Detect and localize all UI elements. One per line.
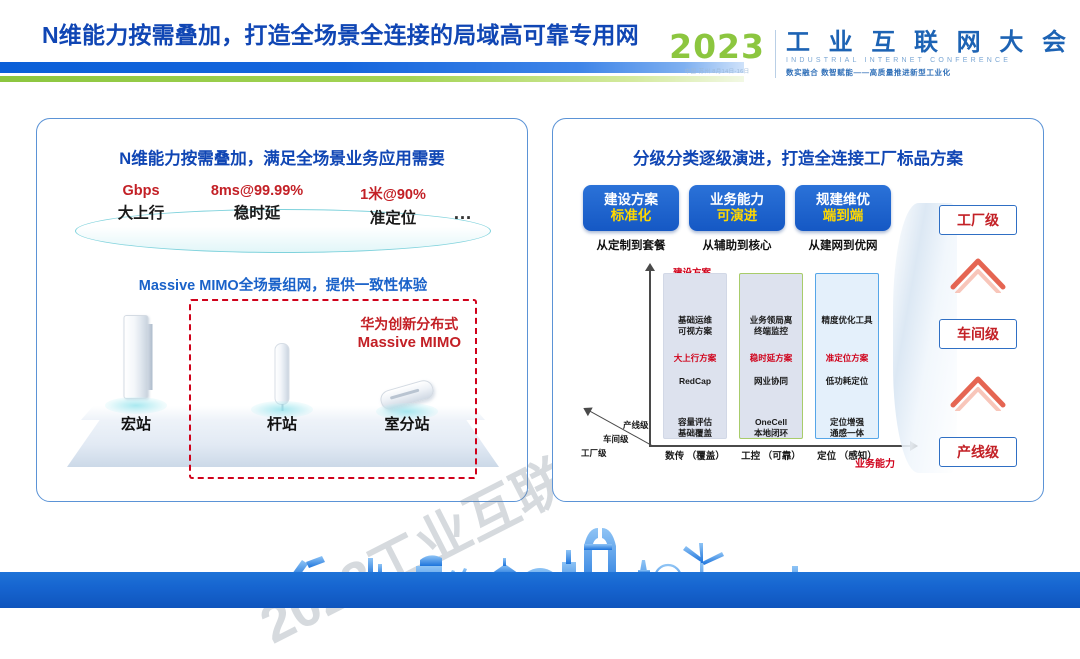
kpi-row: Gbps 大上行 8ms@99.99% 稳时延 1米@90% 准定位 … [37,181,529,261]
logo-divider [775,30,776,78]
conference-logo: 2023 中国·苏州 8月14日-16日 工 业 互 联 网 大 会 INDUS… [669,30,1072,78]
solution-matrix-chart: 建设方案 运维方案 业务方案 网络方案 产线级 车间级 工厂级 基础运维 可视方… [577,259,917,475]
cell-text: 基础运维 可视方案 [678,315,712,336]
station-glow [105,397,167,414]
slide-header: N维能力按需叠加，打造全场景全连接的局域高可靠专用网 2023 中国·苏州 8月… [0,0,1080,96]
matrix-cell: 定位增强 通感一体 [816,394,878,440]
kpi-more-ellipsis: … [453,203,472,225]
z-axis-tick: 工厂级 [581,447,607,459]
pill-subtitle: 从建网到优网 [795,237,891,253]
cell-text: RedCap [679,376,711,386]
slide-footer [0,516,1080,608]
chevron-up-icon [949,253,1007,293]
matrix-cell: 准定位方案 低功耗定位 [816,342,878,388]
page-title: N维能力按需叠加，打造全场景全连接的局域高可靠专用网 [42,16,639,50]
highlight-line-2: Massive MIMO [358,333,461,353]
level-badge-line[interactable]: 产线级 [939,437,1017,467]
x-axis-tick: 数传 （覆盖） [657,451,733,463]
left-content-panel: N维能力按需叠加，满足全场景业务应用需要 Gbps 大上行 8ms@99.99%… [36,118,528,502]
cell-highlight: 稳时延方案 [740,353,802,364]
logo-text-block: 工 业 互 联 网 大 会 INDUSTRIAL INTERNET CONFER… [786,30,1072,78]
right-content-panel: 分级分类逐级演进，打造全连接工厂标品方案 工业互联网大会 建设方案 标准化 业务… [552,118,1044,502]
pill-bottom-label: 端到端 [823,208,864,224]
z-axis-tick: 车间级 [603,433,629,445]
cell-highlight: 准定位方案 [816,353,878,364]
x-axis-tick: 工控 （可靠） [733,451,809,463]
logo-year: 2023 [669,30,765,63]
matrix-cell: 容量评估 基础覆盖 [664,394,726,440]
matrix-column-shuchuan: 基础运维 可视方案 大上行方案 RedCap 容量评估 基础覆盖 [663,273,727,439]
z-axis-tick: 产线级 [623,419,649,431]
pill-top-label: 业务能力 [710,192,764,208]
pill-bottom-label: 标准化 [611,208,652,224]
highlight-line-1: 华为创新分布式 [358,315,461,333]
chevron-up-icon [949,371,1007,411]
chart-x-axis [649,445,911,447]
matrix-column-gongkong: 业务领局离 终端监控 稳时延方案 网业协同 OneCell 本地闭环 [739,273,803,439]
kpi-value: 8ms@99.99% [197,183,317,199]
kpi-value: 1米@90% [333,183,453,204]
station-macro: 宏站 [81,309,191,469]
kpi-item: 1米@90% 准定位 [333,183,453,228]
cell-text: 精度优化工具 [821,315,872,325]
pill-top-label: 建设方案 [604,192,658,208]
x-axis-title: 业务能力 [855,455,895,470]
kpi-label: 稳时延 [197,201,317,223]
logo-date: 中国·苏州 8月14日-16日 [669,67,765,75]
logo-name-en: INDUSTRIAL INTERNET CONFERENCE [786,57,1072,64]
footer-band [0,572,1080,608]
kpi-label: 大上行 [81,201,201,223]
macro-antenna-icon [124,315,149,399]
pill-top-label: 规建维优 [816,192,870,208]
kpi-item: Gbps 大上行 [81,183,201,223]
cell-text: OneCell 本地闭环 [754,417,788,438]
kpi-label: 准定位 [333,206,453,228]
cell-text: 业务领局离 终端监控 [750,315,793,336]
level-ladder: 工厂级 车间级 产线级 [931,205,1027,473]
matrix-column-dingwei: 精度优化工具 准定位方案 低功耗定位 定位增强 通感一体 [815,273,879,439]
left-panel-title: N维能力按需叠加，满足全场景业务应用需要 [37,145,527,169]
matrix-cell: 稳时延方案 网业协同 [740,342,802,388]
logo-name-cn: 工 业 互 联 网 大 会 [786,30,1072,55]
cell-text: 容量评估 基础覆盖 [678,417,712,438]
strategy-pill-service[interactable]: 业务能力 可演进 [689,185,785,231]
level-badge-factory[interactable]: 工厂级 [939,205,1017,235]
matrix-cell: 业务领局离 终端监控 [740,292,802,338]
pill-subtitle: 从辅助到核心 [689,237,785,253]
strategy-pill-ops[interactable]: 规建维优 端到端 [795,185,891,231]
logo-subtitle: 数实融合 数智赋能——高质量推进新型工业化 [786,67,1072,78]
pill-bottom-label: 可演进 [717,208,758,224]
matrix-cell: 精度优化工具 [816,292,878,326]
strategy-pill-construction[interactable]: 建设方案 标准化 [583,185,679,231]
huawei-highlight-label: 华为创新分布式 Massive MIMO [358,315,461,353]
cell-text: 定位增强 通感一体 [830,417,864,438]
matrix-cell: 基础运维 可视方案 [664,292,726,338]
matrix-cell: OneCell 本地闭环 [740,394,802,440]
cell-text: 网业协同 [754,376,788,386]
header-blue-rule [0,62,744,73]
pill-subtitle: 从定制到套餐 [583,237,679,253]
logo-year-block: 2023 中国·苏州 8月14日-16日 [669,30,775,75]
matrix-cell: 大上行方案 RedCap [664,342,726,388]
cell-text: 低功耗定位 [826,376,869,386]
kpi-item: 8ms@99.99% 稳时延 [197,183,317,223]
mimo-tagline: Massive MIMO全场景组网，提供一致性体验 [37,274,529,295]
kpi-value: Gbps [81,183,201,199]
header-green-rule [0,76,744,82]
right-panel-title: 分级分类逐级演进，打造全连接工厂标品方案 [553,145,1043,169]
huawei-highlight-box: 华为创新分布式 Massive MIMO [189,299,477,479]
level-badge-workshop[interactable]: 车间级 [939,319,1017,349]
station-caption: 宏站 [121,413,151,434]
cell-highlight: 大上行方案 [664,353,726,364]
